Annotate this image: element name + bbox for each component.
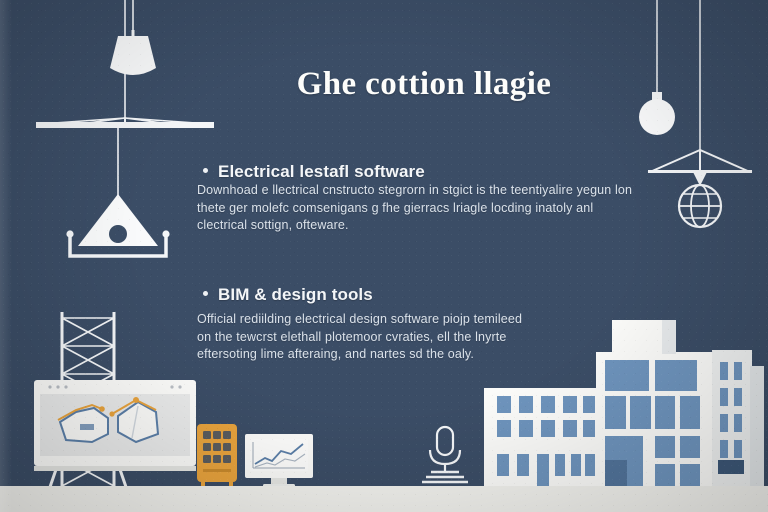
- bullet-dot-icon: [203, 168, 208, 173]
- section-heading-electrical: Electrical lestafl software: [203, 162, 425, 182]
- pendant-lamp-icon: [98, 0, 168, 140]
- crane-hook-load-icon: [40, 124, 190, 264]
- section-heading-text: BIM & design tools: [218, 285, 373, 304]
- chart-monitor-icon: [245, 434, 313, 490]
- section-body-bim: Official rediilding electrical design so…: [197, 311, 537, 364]
- lattice-tower-icon: [28, 312, 148, 502]
- edge-highlight: [0, 0, 12, 512]
- microphone-icon: [418, 424, 472, 486]
- globe-icon: [679, 185, 721, 227]
- page-title: Ghe cottion llagie: [214, 66, 634, 102]
- control-panel-icon: [192, 424, 242, 492]
- bullet-dot-icon: [203, 291, 208, 296]
- tower-crane-icon: [20, 0, 220, 260]
- cad-monitor-icon: [32, 378, 198, 483]
- section-heading-text: Electrical lestafl software: [218, 162, 425, 181]
- ground-strip: [0, 486, 768, 512]
- section-heading-bim: BIM & design tools: [203, 285, 373, 305]
- section-body-electrical: Downhoad e llectrical cnstructo stegrorn…: [197, 182, 639, 235]
- globe-crane-icon: [640, 0, 760, 230]
- poster-canvas: Ghe cottion llagie Electrical lestafl so…: [0, 0, 768, 512]
